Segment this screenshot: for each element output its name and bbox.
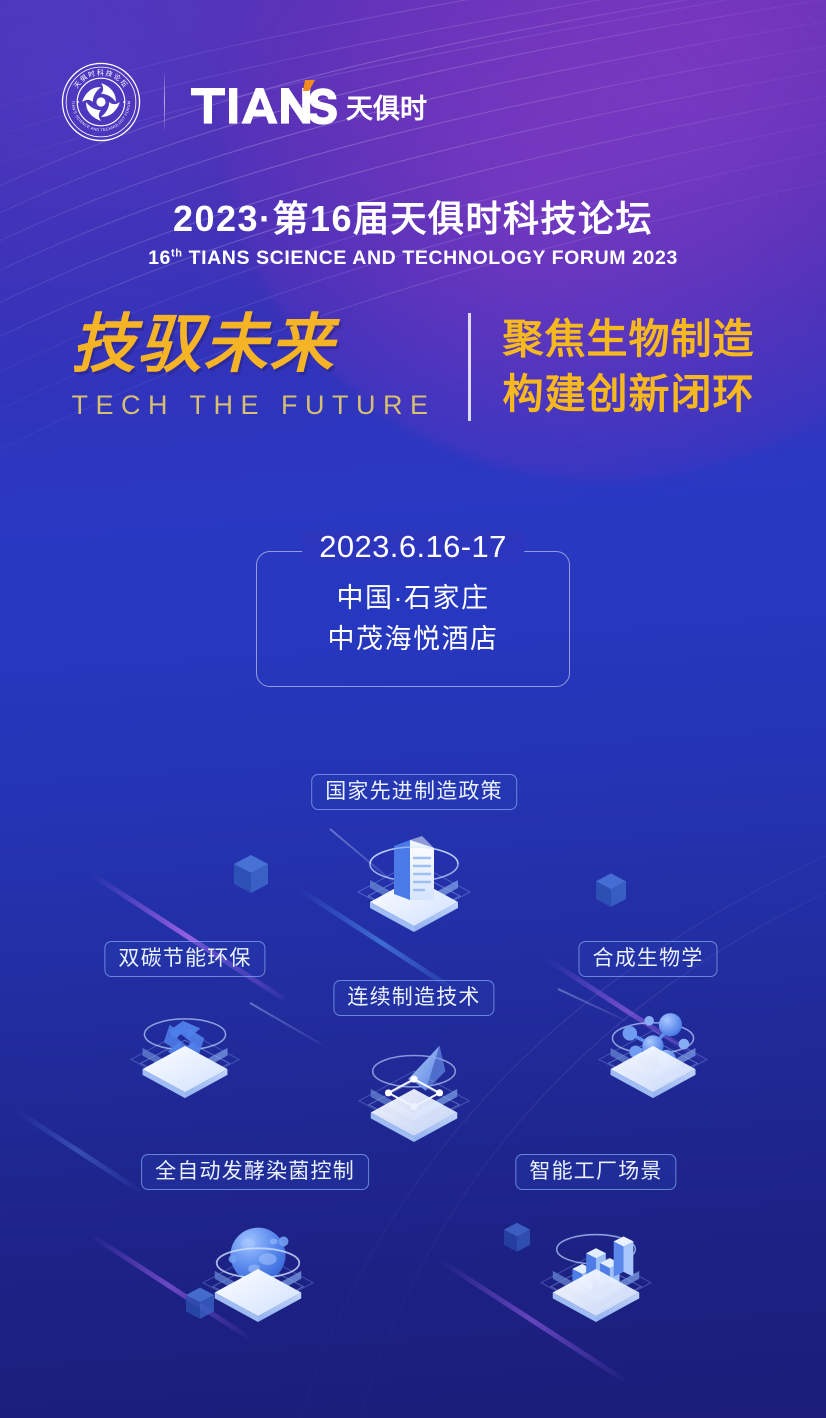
event-date: 2023.6.16-17 bbox=[302, 531, 524, 562]
topic-label-synthetic-biology[interactable]: 合成生物学 bbox=[579, 941, 718, 977]
diagonal-streak-6 bbox=[15, 1108, 144, 1194]
tians-chinese-logotype: 天俱时 bbox=[346, 96, 427, 123]
brand-header: 天俱时科技论坛 TIAN'S SCIENCE AND TECHNOLOGY FO… bbox=[60, 62, 427, 142]
topic-label-fermentation-contamination-control[interactable]: 全自动发酵染菌控制 bbox=[141, 1154, 369, 1190]
topic-label-dual-carbon-energy-saving[interactable]: 双碳节能环保 bbox=[104, 941, 265, 977]
forum-title-block: 2023·第16届天俱时科技论坛 16th TIANS SCIENCE AND … bbox=[0, 198, 826, 270]
diagonal-streak-1 bbox=[91, 872, 287, 1001]
topic-label-continuous-manufacturing[interactable]: 连续制造技术 bbox=[333, 980, 494, 1016]
event-venue: 中茂海悦酒店 bbox=[257, 619, 569, 660]
decorative-cube-2 bbox=[596, 873, 626, 909]
tians-wordmark: 天俱时 bbox=[189, 79, 427, 125]
recycle-fan-isometric-icon bbox=[125, 988, 245, 1100]
bar-chart-isometric-icon bbox=[535, 1208, 657, 1322]
slogan-right: 聚焦生物制造 构建创新闭环 bbox=[473, 312, 755, 420]
molecule-isometric-icon bbox=[593, 988, 713, 1100]
document-isometric-icon bbox=[352, 818, 476, 934]
forum-poster: 天俱时科技论坛 TIAN'S SCIENCE AND TECHNOLOGY FO… bbox=[0, 0, 826, 1418]
logo-divider bbox=[164, 73, 165, 131]
decorative-cube-1 bbox=[234, 855, 268, 895]
forum-title-en: 16th TIANS SCIENCE AND TECHNOLOGY FORUM … bbox=[0, 247, 826, 270]
connector-line-3 bbox=[250, 1002, 322, 1045]
svg-text:天俱时科技论坛: 天俱时科技论坛 bbox=[72, 68, 130, 90]
tians-forum-emblem-icon: 天俱时科技论坛 TIAN'S SCIENCE AND TECHNOLOGY FO… bbox=[60, 61, 142, 143]
slogan-en: TECH THE FUTURE bbox=[71, 390, 435, 421]
slogan-divider bbox=[468, 313, 471, 421]
forum-title-en-ordinal: th bbox=[171, 248, 183, 260]
paper-plane-network-isometric-icon bbox=[353, 1028, 475, 1142]
decorative-cube-4 bbox=[504, 1222, 530, 1254]
forum-title-en-number: 16 bbox=[148, 247, 171, 269]
tians-latin-logotype bbox=[189, 79, 341, 125]
forum-title-en-rest: TIANS SCIENCE AND TECHNOLOGY FORUM 2023 bbox=[183, 247, 678, 269]
topic-label-smart-factory-scenario[interactable]: 智能工厂场景 bbox=[515, 1154, 676, 1190]
slogan-right-line1: 聚焦生物制造 bbox=[503, 312, 755, 366]
topic-label-national-advanced-manufacturing-policy[interactable]: 国家先进制造政策 bbox=[311, 774, 517, 810]
event-location: 中国·石家庄 中茂海悦酒店 bbox=[257, 578, 569, 660]
forum-title-cn: 2023·第16届天俱时科技论坛 bbox=[0, 198, 826, 240]
event-city: 中国·石家庄 bbox=[257, 578, 569, 619]
slogan-right-line2: 构建创新闭环 bbox=[503, 367, 755, 421]
event-info-box: 2023.6.16-17 中国·石家庄 中茂海悦酒店 bbox=[256, 551, 570, 687]
slogan-left: 技驭未来 TECH THE FUTURE bbox=[71, 312, 465, 421]
sphere-globe-isometric-icon bbox=[197, 1208, 319, 1322]
slogan-cn: 技驭未来 bbox=[71, 312, 435, 376]
slogan-block: 技驭未来 TECH THE FUTURE 聚焦生物制造 构建创新闭环 bbox=[0, 312, 826, 421]
